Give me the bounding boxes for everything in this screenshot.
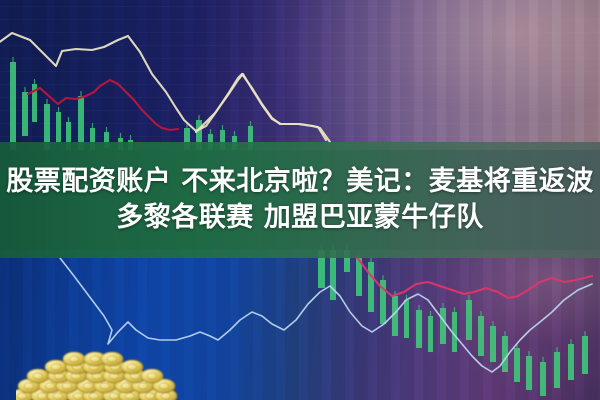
gold-coin-pile (16, 342, 184, 400)
headline-line-2: 多黎各联赛 加盟巴亚蒙牛仔队 (116, 200, 483, 236)
news-banner-image: 股票配资账户 不来北京啦？美记：麦基将重返波 多黎各联赛 加盟巴亚蒙牛仔队 (0, 0, 600, 400)
headline-line-1: 股票配资账户 不来北京啦？美记：麦基将重返波 (6, 164, 593, 200)
headline-banner: 股票配资账户 不来北京啦？美记：麦基将重返波 多黎各联赛 加盟巴亚蒙牛仔队 (0, 142, 600, 258)
